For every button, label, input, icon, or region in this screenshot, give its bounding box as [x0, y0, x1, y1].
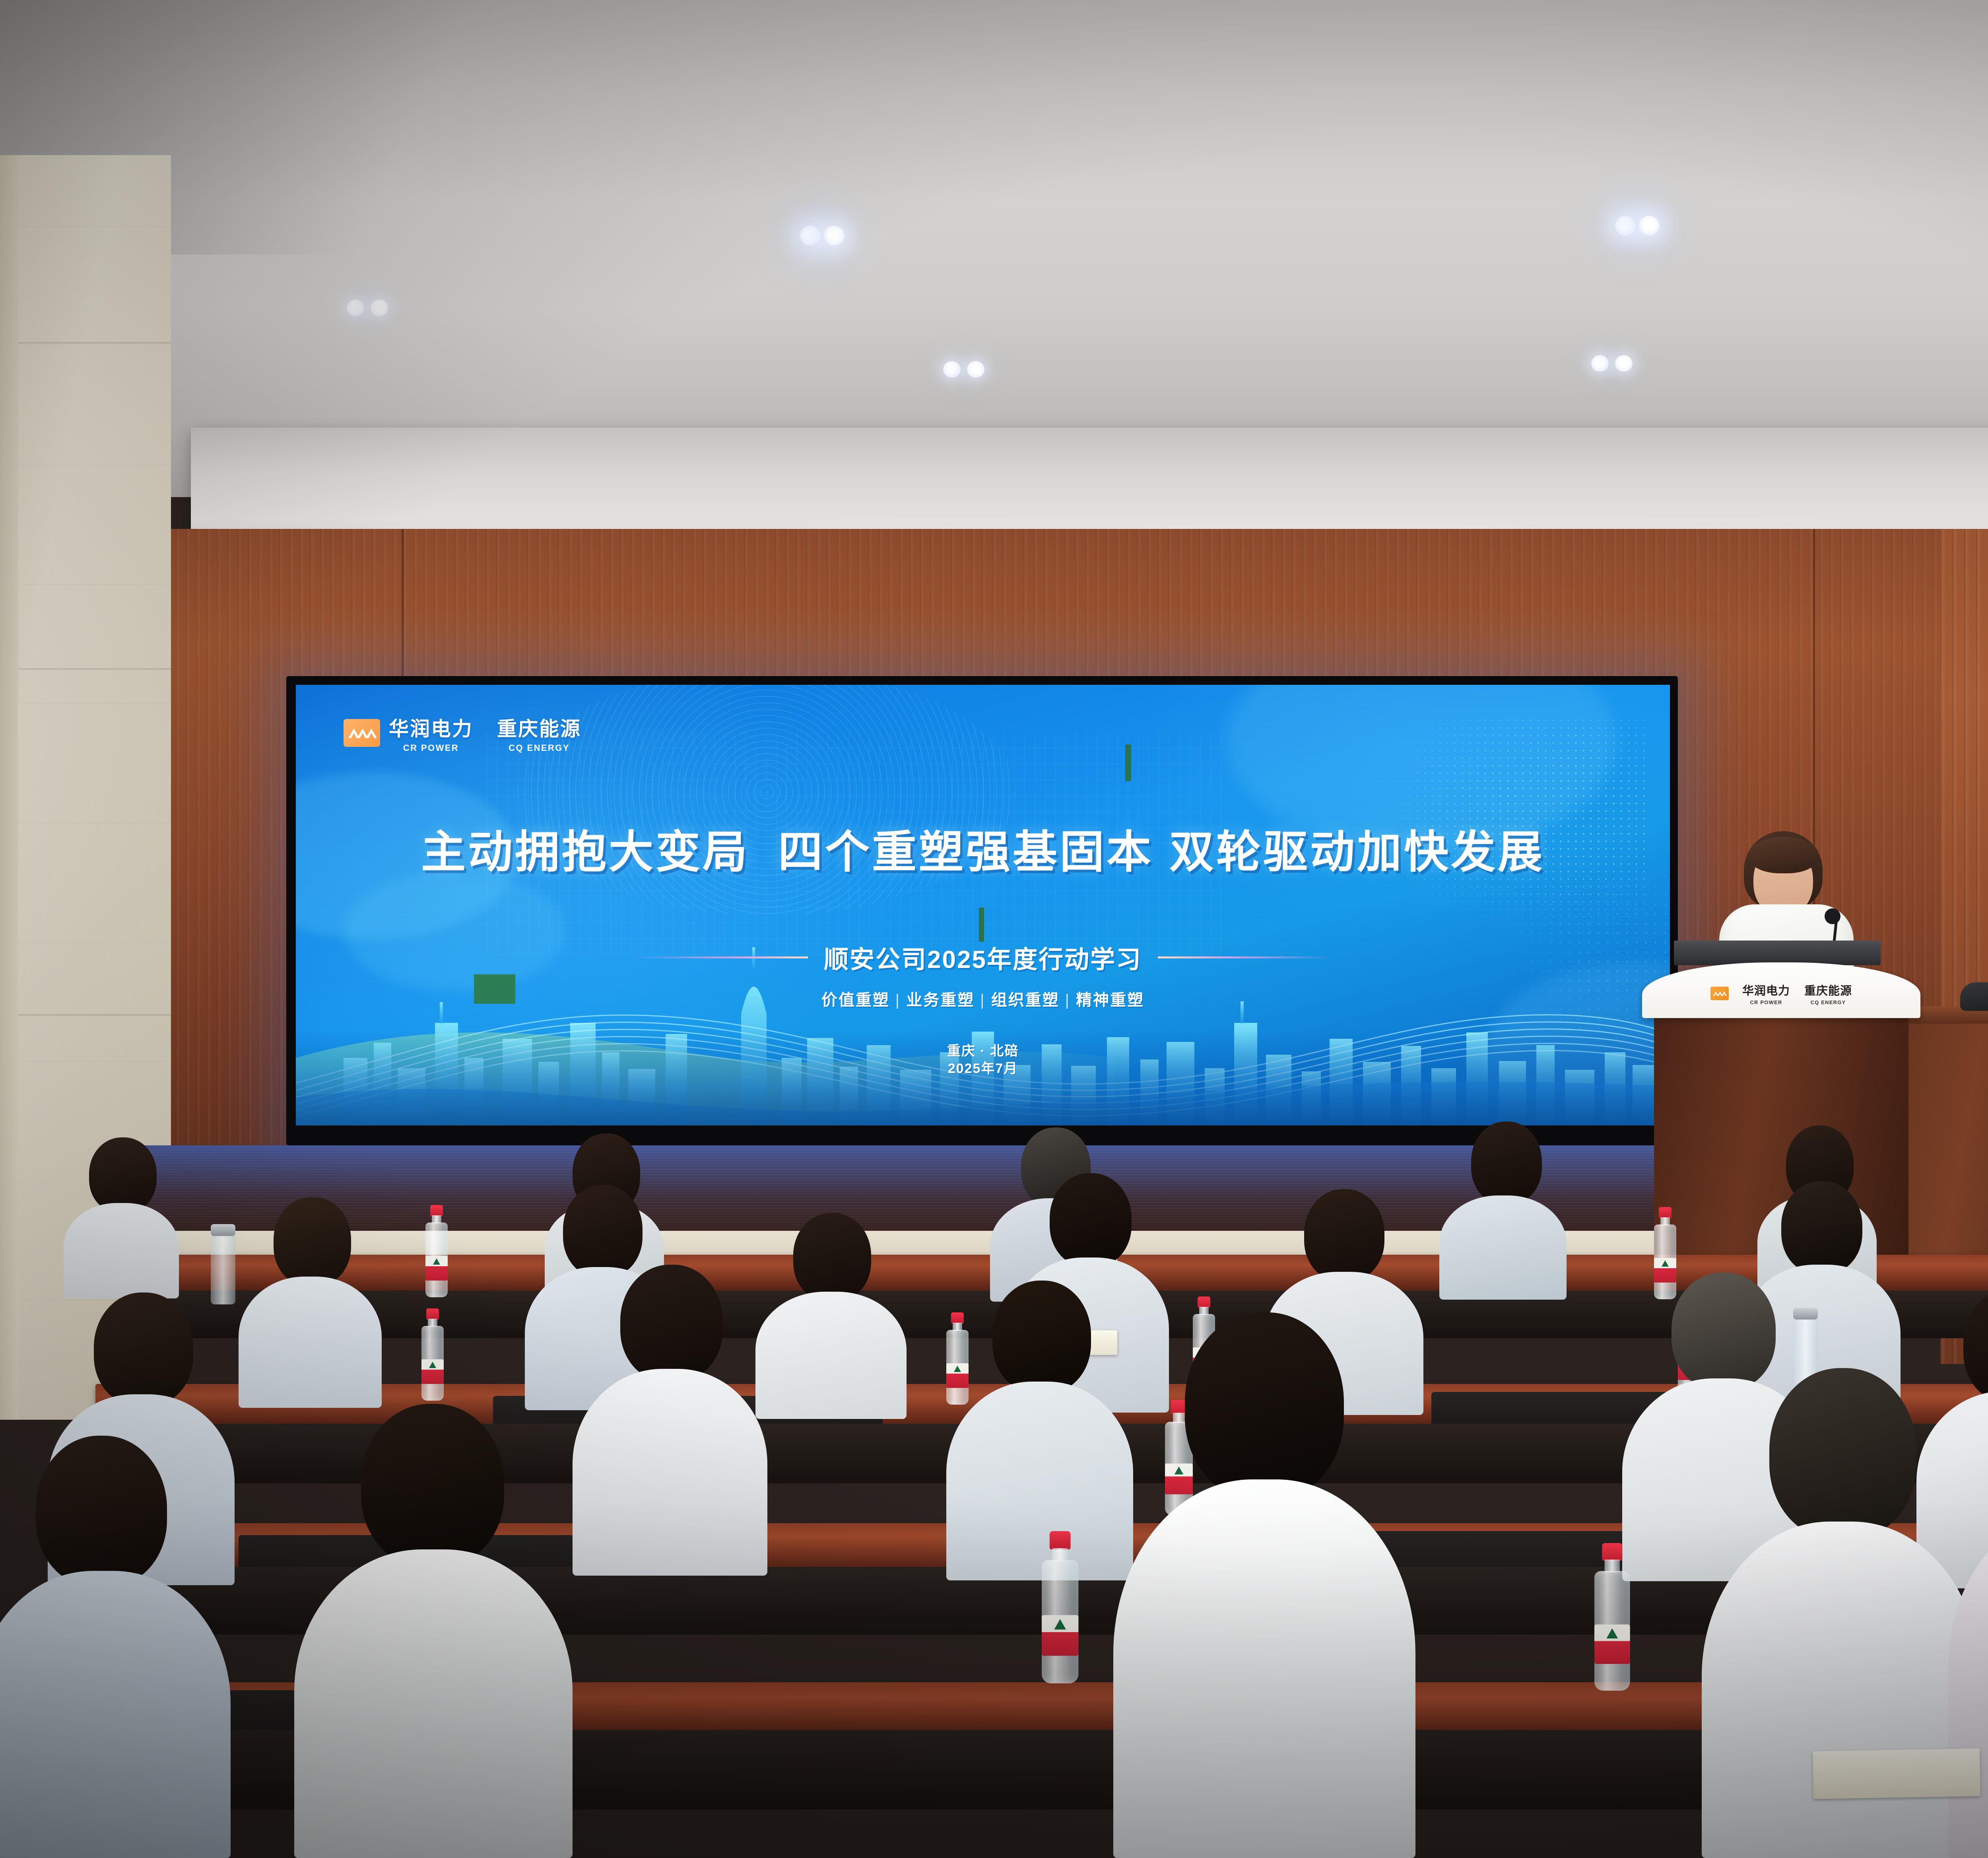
- slide-rule-left: [633, 956, 808, 958]
- podium-brand-cr-power: 华润电力 CR POWER: [1742, 981, 1790, 1005]
- cr-power-mountain-icon: [344, 719, 380, 747]
- audience-member-r2-3: [755, 1213, 907, 1428]
- ceiling-downlight-pair-6: [346, 296, 398, 322]
- led-screen[interactable]: 华润电力 CR POWER 重庆能源 CQ ENERGY 主动拥抱大变局四个重塑…: [296, 685, 1670, 1125]
- audience-member-r4-2: [294, 1404, 573, 1858]
- slide-accent-mark-top: [1125, 744, 1131, 781]
- slide-pillar-2: 业务重塑: [906, 991, 975, 1009]
- presenter-laptop[interactable]: [1674, 941, 1881, 965]
- pillar-separator-2: |: [975, 991, 991, 1009]
- brand-cq-energy-en: CQ ENERGY: [509, 743, 570, 753]
- podium-brand-cq-energy-cn: 重庆能源: [1804, 981, 1852, 998]
- slide-title: 主动拥抱大变局四个重塑强基固本双轮驱动加快发展: [296, 816, 1670, 880]
- slide-pillar-3: 组织重塑: [991, 991, 1060, 1009]
- slide-title-part1: 主动拥抱大变局: [421, 827, 749, 877]
- slide-logo-lockup: 华润电力 CR POWER 重庆能源 CQ ENERGY: [344, 719, 581, 753]
- audience-member-r1-1: [64, 1137, 179, 1304]
- ceiling-downlight-pair-1: [799, 223, 851, 248]
- pillar-separator-1: |: [890, 991, 906, 1009]
- audience-member-r3-3: [946, 1281, 1133, 1587]
- ceiling-downlight-pair-3: [942, 358, 994, 383]
- brand-cq-energy-cn: 重庆能源: [497, 719, 581, 739]
- ceiling-downlight-pair-4: [1590, 352, 1642, 377]
- audience-member-r3-2: [573, 1265, 767, 1583]
- audience-member-r4-1: [0, 1436, 231, 1858]
- cr-power-mountain-icon: [1710, 987, 1729, 1000]
- slide-location: 重庆 · 北碚: [296, 1043, 1670, 1060]
- slide-pillars: 价值重塑|业务重塑|组织重塑|精神重塑: [296, 987, 1670, 1010]
- brand-cr-power-en: CR POWER: [403, 743, 459, 753]
- slide-title-part2: 四个重塑强基固本: [778, 827, 1153, 877]
- slide-subtitle: 顺安公司2025年度行动学习: [824, 939, 1142, 975]
- slide-subtitle-row: 顺安公司2025年度行动学习: [296, 939, 1670, 975]
- slide-date: 2025年7月: [296, 1060, 1670, 1078]
- audience-member-r2-1: [239, 1197, 382, 1420]
- notebook-4[interactable]: [1813, 1748, 1980, 1799]
- presenter-hair-fringe: [1749, 837, 1819, 873]
- conference-hall-photo: 华润电力 CR POWER 重庆能源 CQ ENERGY 主动拥抱大变局四个重塑…: [0, 0, 1988, 1858]
- podium-front-panel: 华润电力 CR POWER 重庆能源 CQ ENERGY: [1642, 962, 1920, 1018]
- slide-pillar-4: 精神重塑: [1076, 991, 1144, 1009]
- audience-member-r1-4: [1439, 1121, 1567, 1304]
- pillar-left-edge: [0, 155, 18, 1420]
- slide-rule-right: [1158, 956, 1333, 958]
- slide-place-block: 重庆 · 北碚 2025年7月: [296, 1043, 1670, 1077]
- brand-cq-energy: 重庆能源 CQ ENERGY: [497, 719, 581, 753]
- podium-brand-cq-energy-en: CQ ENERGY: [1811, 999, 1846, 1005]
- pillar-separator-3: |: [1060, 991, 1076, 1009]
- podium-brand-cr-power-en: CR POWER: [1750, 999, 1782, 1005]
- ceiling-downlight-pair-2: [1614, 213, 1666, 238]
- brand-cr-power: 华润电力 CR POWER: [389, 719, 473, 753]
- slide-pillar-1: 价值重塑: [821, 991, 890, 1009]
- audience-member-r4-3: [1113, 1312, 1415, 1858]
- slide-title-part3: 双轮驱动加快发展: [1169, 827, 1545, 877]
- slide-title-divider: [979, 908, 984, 942]
- brand-cr-power-cn: 华润电力: [389, 719, 473, 739]
- podium-brand-cq-energy: 重庆能源 CQ ENERGY: [1804, 981, 1852, 1005]
- podium-brand-cr-power-cn: 华润电力: [1742, 981, 1790, 998]
